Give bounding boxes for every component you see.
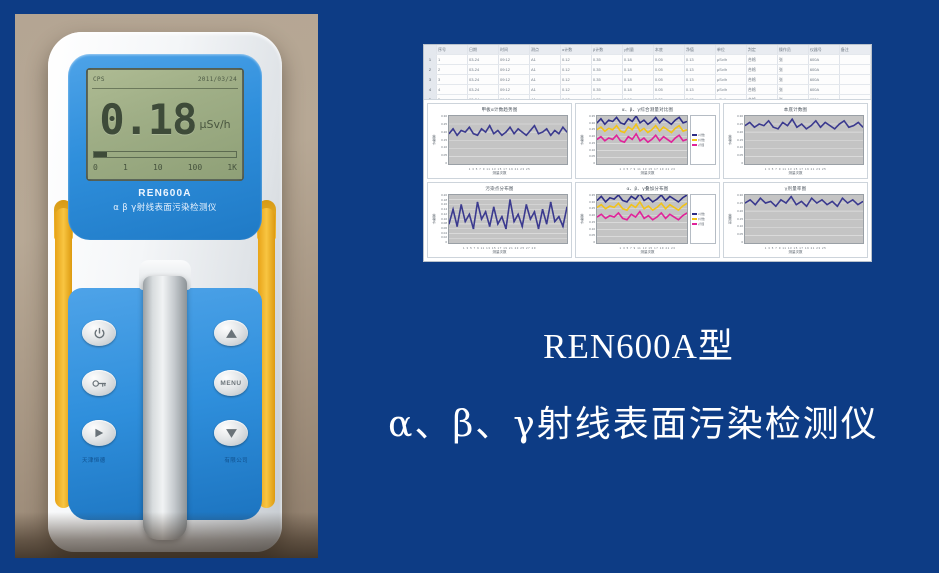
chart-card: α、β、γ综合测量对比图计数率0.350.300.250.200.150.100… (575, 103, 720, 179)
spreadsheet-cell: A1 (530, 65, 561, 74)
lcd-screen: CPS 2011/03/24 0.18 μSv/h 01101001K (88, 70, 242, 179)
chart-y-tick: 0 (445, 162, 447, 165)
spreadsheet-cell: 合格 (747, 65, 778, 74)
chart-y-tick: 0.10 (589, 149, 595, 152)
chart-title: 本底计数图 (724, 104, 867, 113)
chart-legend-label: α计数 (698, 133, 705, 137)
software-screenshot-panel: 序号日期时间测点α计数β计数γ剂量本底净值单位判定操作员仪器号备注1103-24… (423, 44, 872, 262)
chart-legend-swatch (692, 223, 697, 226)
lcd-scale-tick: 1K (227, 163, 237, 172)
lcd-bezel: CPS 2011/03/24 0.18 μSv/h 01101001K (86, 68, 244, 181)
spreadsheet-cell: 0.35 (592, 85, 623, 94)
spreadsheet-cell (840, 65, 871, 74)
spreadsheet-row: 3303-2409:12A10.120.350.180.050.13μSv/h合… (424, 75, 871, 85)
device-model-label: REN600A (68, 188, 262, 199)
spreadsheet-row-header: 1 (424, 55, 437, 64)
chart-legend-swatch (692, 139, 697, 142)
spreadsheet-cell: γ剂量 (623, 45, 654, 54)
lcd-status-bar: CPS 2011/03/24 (93, 73, 237, 86)
lcd-unit: μSv/h (199, 118, 230, 131)
spreadsheet-cell: A1 (530, 75, 561, 84)
key-icon (92, 378, 107, 389)
spreadsheet-cell (840, 55, 871, 64)
chart-y-ticks: 0.350.300.250.200.150.100.050 (584, 115, 596, 165)
spreadsheet-row-header (424, 45, 437, 54)
chart-y-tick: 0.15 (589, 142, 595, 145)
chart-y-tick: 0.10 (737, 146, 743, 149)
chart-y-tick: 0.20 (737, 210, 743, 213)
chart-y-tick: 0.02 (441, 236, 447, 239)
chart-y-tick: 0.15 (737, 139, 743, 142)
chart-card: α、β、γ叠加分布图计数率0.350.300.250.200.150.100.0… (575, 182, 720, 258)
spreadsheet-cell: 3 (437, 75, 468, 84)
down-button[interactable] (214, 420, 248, 446)
chart-y-axis-label: 剂量率 (726, 194, 732, 244)
key-button[interactable] (82, 370, 116, 396)
triangle-up-icon (225, 328, 238, 339)
spreadsheet-header-row: 序号日期时间测点α计数β计数γ剂量本底净值单位判定操作员仪器号备注 (424, 45, 871, 55)
chart-legend-swatch (692, 144, 697, 147)
chart-grid: 甲板α计数趋势图计数率0.300.250.200.150.100.0501 3 … (424, 100, 871, 261)
chart-y-ticks: 0.300.250.200.150.100.050 (732, 194, 744, 244)
chart-y-tick: 0.15 (737, 218, 743, 221)
spreadsheet-cell: μSv/h (716, 55, 747, 64)
spreadsheet-cell: 序号 (437, 45, 468, 54)
chart-y-tick: 0 (593, 162, 595, 165)
chart-y-tick: 0.25 (441, 123, 447, 126)
spreadsheet-cell: 0.05 (654, 75, 685, 84)
chart-y-tick: 0.25 (737, 202, 743, 205)
lcd-divider (92, 88, 238, 89)
chart-y-tick: 0.05 (589, 234, 595, 237)
chart-y-tick: 0.35 (589, 194, 595, 197)
chart-y-tick: 0.20 (441, 194, 447, 197)
chart-title: α、β、γ综合测量对比图 (576, 104, 719, 113)
spreadsheet-cell: 合格 (747, 85, 778, 94)
spreadsheet-cell: 合格 (747, 75, 778, 84)
chart-legend-label: α计数 (698, 212, 705, 216)
spreadsheet-cell: 日期 (468, 45, 499, 54)
chart-legend-item: β计数 (692, 138, 714, 142)
chart-y-tick: 0.30 (737, 194, 743, 197)
spreadsheet-cell: μSv/h (716, 85, 747, 94)
chart-legend: α计数β计数γ剂量 (690, 194, 716, 244)
chart-title: γ剂量率图 (724, 183, 867, 192)
spreadsheet-cell: 张 (778, 55, 809, 64)
spreadsheet-cell: 仪器号 (809, 45, 840, 54)
chart-legend-label: β计数 (698, 138, 705, 142)
device-model-sublabel: α β γ射线表面污染检测仪 (68, 201, 262, 213)
device-footnotes: 天津恒德 有限公司 (68, 456, 262, 464)
spreadsheet-cell: 判定 (747, 45, 778, 54)
spreadsheet-cell: 03-24 (468, 85, 499, 94)
chart-legend-swatch (692, 134, 697, 137)
chart-y-tick: 0.05 (737, 233, 743, 236)
chart-y-ticks: 0.350.300.250.200.150.100.050 (584, 194, 596, 244)
spreadsheet-cell: α计数 (561, 45, 592, 54)
chart-card: γ剂量率图剂量率0.300.250.200.150.100.0501 3 5 7… (723, 182, 868, 258)
chart-y-tick: 0.20 (589, 214, 595, 217)
chart-title: 甲板α计数趋势图 (428, 104, 571, 113)
triangle-right-icon (93, 427, 105, 439)
chart-y-tick: 0.20 (441, 131, 447, 134)
spreadsheet-cell: 600A (809, 55, 840, 64)
spreadsheet-cell: 600A (809, 85, 840, 94)
spreadsheet-cell: β计数 (592, 45, 623, 54)
menu-button[interactable]: MENU (214, 370, 248, 396)
lcd-scale-tick: 10 (153, 163, 163, 172)
spreadsheet-cell: 09:12 (499, 75, 530, 84)
lcd-value: 0.18 (99, 99, 196, 141)
spreadsheet-cell: μSv/h (716, 65, 747, 74)
chart-y-tick: 0.18 (441, 199, 447, 202)
page-title: REN600A型 (318, 318, 939, 369)
chart-x-axis-label: 测量次数 (428, 171, 571, 178)
spreadsheet-cell (840, 85, 871, 94)
chart-card: 本底计数图计数率0.300.250.200.150.100.0501 3 5 7… (723, 103, 868, 179)
spreadsheet-cell: 0.18 (623, 65, 654, 74)
spreadsheet-cell: 2 (437, 65, 468, 74)
chart-y-tick: 0.08 (441, 222, 447, 225)
spreadsheet-cell: 0.18 (623, 85, 654, 94)
chart-y-tick: 0.15 (441, 139, 447, 142)
chart-y-tick: 0.10 (737, 225, 743, 228)
chart-legend-item: α计数 (692, 133, 714, 137)
device-footnote-left: 天津恒德 (82, 456, 106, 464)
spreadsheet-cell: 0.12 (561, 75, 592, 84)
spreadsheet-cell: 03-24 (468, 75, 499, 84)
chart-y-tick: 0.05 (589, 155, 595, 158)
chart-y-tick: 0.20 (737, 131, 743, 134)
device-upper-face: CPS 2011/03/24 0.18 μSv/h 01101001K (68, 54, 262, 240)
chart-y-tick: 0.10 (589, 228, 595, 231)
device-brand-block: REN600A α β γ射线表面污染检测仪 (68, 188, 262, 213)
chart-y-axis-label: 计数率 (430, 194, 436, 244)
chart-y-tick: 0 (741, 162, 743, 165)
spreadsheet-grid: 序号日期时间测点α计数β计数γ剂量本底净值单位判定操作员仪器号备注1103-24… (424, 45, 871, 100)
chart-card: 污染点分布图计数率0.200.180.160.140.120.100.080.0… (427, 182, 572, 258)
chart-y-tick: 0.10 (441, 146, 447, 149)
spreadsheet-cell: 测点 (530, 45, 561, 54)
chart-y-axis-label: 计数率 (430, 115, 436, 165)
spreadsheet-cell: 0.05 (654, 85, 685, 94)
chart-legend-item: α计数 (692, 212, 714, 216)
page-subtitle: α、β、γ射线表面污染检测仪 (318, 395, 939, 447)
chart-y-tick: 0 (593, 241, 595, 244)
chart-y-tick: 0.06 (441, 227, 447, 230)
chart-y-tick: 0.25 (589, 207, 595, 210)
lcd-reading: 0.18 μSv/h (88, 92, 242, 148)
chart-y-tick: 0.04 (441, 232, 447, 235)
spreadsheet-cell: 09:12 (499, 55, 530, 64)
menu-button-label: MENU (220, 380, 241, 387)
chart-y-ticks: 0.300.250.200.150.100.050 (732, 115, 744, 165)
lcd-status-left: CPS (93, 76, 105, 83)
spreadsheet-row: 1103-2409:12A10.120.350.180.050.13μSv/h合… (424, 55, 871, 65)
chart-legend-item: γ剂量 (692, 222, 714, 226)
chart-legend-swatch (692, 218, 697, 221)
spreadsheet-cell: 张 (778, 75, 809, 84)
lcd-scale-tick: 1 (123, 163, 128, 172)
chart-plot-area (744, 115, 864, 165)
chart-title: 污染点分布图 (428, 183, 571, 192)
device-footnote-right: 有限公司 (224, 456, 248, 464)
chart-y-tick: 0.20 (589, 135, 595, 138)
spreadsheet-cell: 0.13 (685, 65, 716, 74)
chart-plot-area (744, 194, 864, 244)
spreadsheet-cell: 张 (778, 65, 809, 74)
lcd-status-right: 2011/03/24 (198, 76, 237, 83)
radiation-detector-device: CPS 2011/03/24 0.18 μSv/h 01101001K (48, 32, 282, 552)
spreadsheet-cell: 0.13 (685, 85, 716, 94)
spreadsheet-cell: 1 (437, 55, 468, 64)
chart-y-tick: 0.25 (589, 128, 595, 131)
slide-root: CPS 2011/03/24 0.18 μSv/h 01101001K (0, 0, 939, 573)
chart-legend: α计数β计数γ剂量 (690, 115, 716, 165)
chart-plot-area (448, 115, 568, 165)
chart-x-axis-label: 测量次数 (576, 250, 719, 257)
spreadsheet-cell: 0.35 (592, 55, 623, 64)
lcd-scale-ticks: 01101001K (93, 160, 237, 174)
lcd-scale-tick: 100 (188, 163, 202, 172)
spreadsheet-cell: 09:12 (499, 65, 530, 74)
chart-legend-label: γ剂量 (698, 222, 704, 226)
lcd-scale-tick: 0 (93, 163, 98, 172)
play-button[interactable] (82, 420, 116, 446)
chart-y-tick: 0 (741, 241, 743, 244)
spreadsheet-cell: 0.13 (685, 75, 716, 84)
chart-legend-label: β计数 (698, 217, 705, 221)
spreadsheet-cell: 操作员 (778, 45, 809, 54)
chart-y-tick: 0.14 (441, 208, 447, 211)
spreadsheet-cell: 4 (437, 85, 468, 94)
chart-plot-area (596, 194, 688, 244)
spreadsheet-cell: 0.13 (685, 55, 716, 64)
chart-title: α、β、γ叠加分布图 (576, 183, 719, 192)
spreadsheet-cell: 03-24 (468, 65, 499, 74)
spreadsheet-cell: 03-24 (468, 55, 499, 64)
spreadsheet-row-header: 3 (424, 75, 437, 84)
chart-y-ticks: 0.300.250.200.150.100.050 (436, 115, 448, 165)
spreadsheet-cell: μSv/h (716, 75, 747, 84)
chart-y-tick: 0.10 (441, 218, 447, 221)
chart-legend-swatch (692, 213, 697, 216)
chart-y-tick: 0.30 (589, 122, 595, 125)
up-button[interactable] (214, 320, 248, 346)
photo-floor-shadow (15, 512, 318, 558)
spreadsheet-cell: 本底 (654, 45, 685, 54)
chart-y-tick: 0.30 (441, 115, 447, 118)
spreadsheet-cell: 0.12 (561, 65, 592, 74)
spreadsheet-cell: 净值 (685, 45, 716, 54)
spreadsheet-cell: 时间 (499, 45, 530, 54)
chart-plot-area (448, 194, 568, 244)
power-button[interactable] (82, 320, 116, 346)
product-photo: CPS 2011/03/24 0.18 μSv/h 01101001K (15, 14, 318, 558)
spreadsheet-cell: 0.18 (623, 55, 654, 64)
chart-legend-label: γ剂量 (698, 143, 704, 147)
spreadsheet-row: 2203-2409:12A10.120.350.180.050.13μSv/h合… (424, 65, 871, 75)
spreadsheet-cell: 0.18 (623, 75, 654, 84)
spreadsheet-cell: 600A (809, 65, 840, 74)
chart-y-tick: 0.05 (737, 154, 743, 157)
chart-y-axis-label: 计数率 (578, 194, 584, 244)
chart-y-tick: 0.30 (589, 201, 595, 204)
chart-y-tick: 0.35 (589, 115, 595, 118)
chart-legend-item: γ剂量 (692, 143, 714, 147)
power-icon (93, 327, 106, 340)
chart-y-tick: 0.05 (441, 154, 447, 157)
chart-y-tick: 0.30 (737, 115, 743, 118)
spreadsheet-cell: 09:12 (499, 85, 530, 94)
spreadsheet-cell: 0.12 (561, 85, 592, 94)
spreadsheet-cell: 600A (809, 75, 840, 84)
spreadsheet-cell: A1 (530, 55, 561, 64)
device-handle-strip (143, 276, 187, 540)
spreadsheet-cell: 单位 (716, 45, 747, 54)
title-block: REN600A型 α、β、γ射线表面污染检测仪 (318, 318, 939, 447)
chart-card: 甲板α计数趋势图计数率0.300.250.200.150.100.0501 3 … (427, 103, 572, 179)
chart-y-tick: 0.15 (589, 221, 595, 224)
chart-legend-item: β计数 (692, 217, 714, 221)
spreadsheet-cell: 0.12 (561, 55, 592, 64)
lcd-bargraph (93, 151, 237, 158)
chart-x-axis-label: 测量次数 (724, 171, 867, 178)
chart-y-tick: 0.25 (737, 123, 743, 126)
spreadsheet-row-header: 2 (424, 65, 437, 74)
chart-y-tick: 0.16 (441, 203, 447, 206)
chart-x-axis-label: 测量次数 (576, 171, 719, 178)
chart-y-axis-label: 计数率 (578, 115, 584, 165)
spreadsheet-row: 4403-2409:12A10.120.350.180.050.13μSv/h合… (424, 85, 871, 95)
chart-y-axis-label: 计数率 (726, 115, 732, 165)
spreadsheet-cell: 0.05 (654, 55, 685, 64)
chart-y-tick: 0 (445, 241, 447, 244)
spreadsheet-row-header: 4 (424, 85, 437, 94)
chart-x-axis-label: 测量次数 (724, 250, 867, 257)
chart-plot-area (596, 115, 688, 165)
chart-y-ticks: 0.200.180.160.140.120.100.080.060.040.02… (436, 194, 448, 244)
spreadsheet-cell: 0.35 (592, 65, 623, 74)
chart-y-tick: 0.12 (441, 213, 447, 216)
spreadsheet-cell: 张 (778, 85, 809, 94)
spreadsheet-cell: 0.05 (654, 65, 685, 74)
triangle-down-icon (225, 428, 238, 439)
spreadsheet-cell: 合格 (747, 55, 778, 64)
spreadsheet-cell: A1 (530, 85, 561, 94)
chart-x-axis-label: 测量次数 (428, 250, 571, 257)
spreadsheet-cell: 0.35 (592, 75, 623, 84)
spreadsheet-cell: 备注 (840, 45, 871, 54)
spreadsheet-cell (840, 75, 871, 84)
lcd-bargraph-fill (94, 152, 107, 157)
